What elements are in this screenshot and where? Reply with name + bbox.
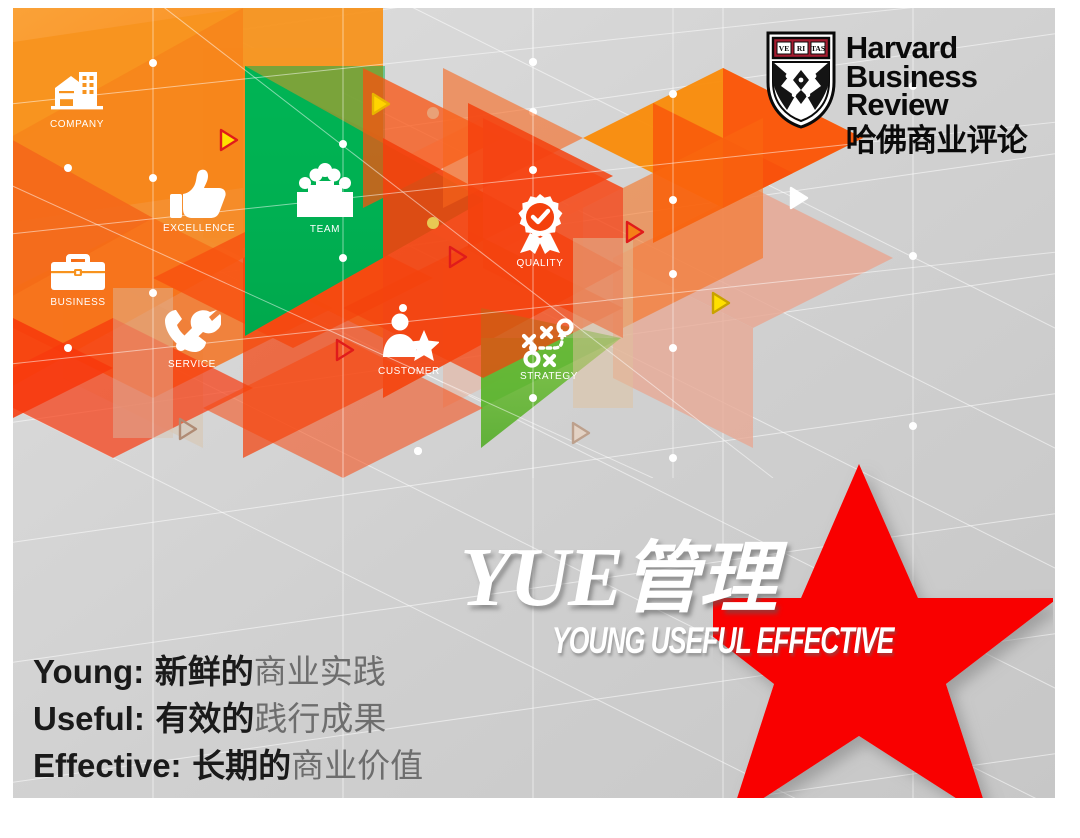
hbr-line-review: Review — [846, 91, 1027, 120]
icon-block-strategy[interactable]: STRATEGY — [518, 318, 580, 382]
hbr-chinese-name: 哈佛商业评论 — [846, 127, 1027, 156]
icon-block-service[interactable]: SERVICE — [163, 308, 221, 370]
hero-subtitle: YOUNG USEFUL EFFECTIVE — [552, 620, 893, 662]
tagline-item: Effective: 长期的商业价值 — [33, 742, 423, 789]
hero-title: YUE管理 — [460, 536, 776, 620]
hbr-wordmark: Harvard Business Review 哈佛商业评论 — [846, 30, 1027, 155]
slide-canvas: COMPANY EXCELLENCE TEAM BU — [13, 8, 1055, 798]
icon-label-company: COMPANY — [50, 119, 104, 130]
harvard-shield-icon: VERITAS — [765, 30, 837, 130]
tagline-item: Young: 新鲜的商业实践 — [33, 648, 423, 695]
tagline-lo-0: 商业实践 — [254, 652, 386, 691]
hero-title-latin: YUE — [460, 531, 622, 624]
tagline-en-1: Useful: — [33, 700, 145, 737]
icon-block-customer[interactable]: CUSTOMER — [378, 313, 440, 377]
tagline-hi-1: 有效的 — [155, 699, 254, 738]
tagline-item: Useful: 有效的践行成果 — [33, 695, 423, 742]
strategy-tactics-icon — [518, 318, 580, 368]
icon-label-customer: CUSTOMER — [378, 366, 440, 377]
harvard-business-review-logo: VERITAS Harvard Business Review 哈佛商业评论 — [765, 30, 1027, 155]
icon-label-quality: QUALITY — [517, 258, 564, 269]
icon-block-business[interactable]: BUSINESS — [49, 248, 107, 308]
icon-block-team[interactable]: TEAM — [294, 163, 356, 235]
tagline-en-0: Young: — [33, 653, 144, 690]
svg-text:RI: RI — [797, 44, 805, 53]
phone-wrench-icon — [163, 308, 221, 356]
icon-label-service: SERVICE — [168, 359, 216, 370]
customer-star-icon — [379, 313, 439, 363]
icon-block-quality[interactable]: QUALITY — [508, 193, 572, 269]
hero-title-block: YUE管理 YOUNG USEFUL EFFECTIVE — [460, 536, 980, 666]
briefcase-icon — [49, 248, 107, 294]
svg-text:TAS: TAS — [811, 44, 825, 53]
play-marker-white — [791, 188, 807, 208]
tagline-en-2: Effective: — [33, 747, 182, 784]
tagline-lo-2: 商业价值 — [291, 746, 423, 785]
icon-block-company[interactable]: COMPANY — [49, 70, 105, 130]
people-group-icon — [294, 163, 356, 221]
hero-title-cjk: 管理 — [622, 533, 776, 624]
icon-label-strategy: STRATEGY — [520, 371, 578, 382]
thumbs-up-icon — [169, 168, 229, 220]
svg-text:VE: VE — [779, 44, 789, 53]
tagline-list: Young: 新鲜的商业实践 Useful: 有效的践行成果 Effective… — [33, 648, 423, 790]
tagline-hi-0: 新鲜的 — [155, 652, 254, 691]
office-building-icon — [49, 70, 105, 116]
icon-label-excellence: EXCELLENCE — [163, 223, 235, 234]
icon-label-team: TEAM — [310, 224, 340, 235]
tagline-lo-1: 践行成果 — [254, 699, 386, 738]
play-marker-gray-2 — [573, 423, 589, 443]
icon-block-excellence[interactable]: EXCELLENCE — [163, 168, 235, 234]
award-ribbon-icon — [508, 193, 572, 255]
tagline-hi-2: 长期的 — [192, 746, 291, 785]
icon-label-business: BUSINESS — [50, 297, 105, 308]
